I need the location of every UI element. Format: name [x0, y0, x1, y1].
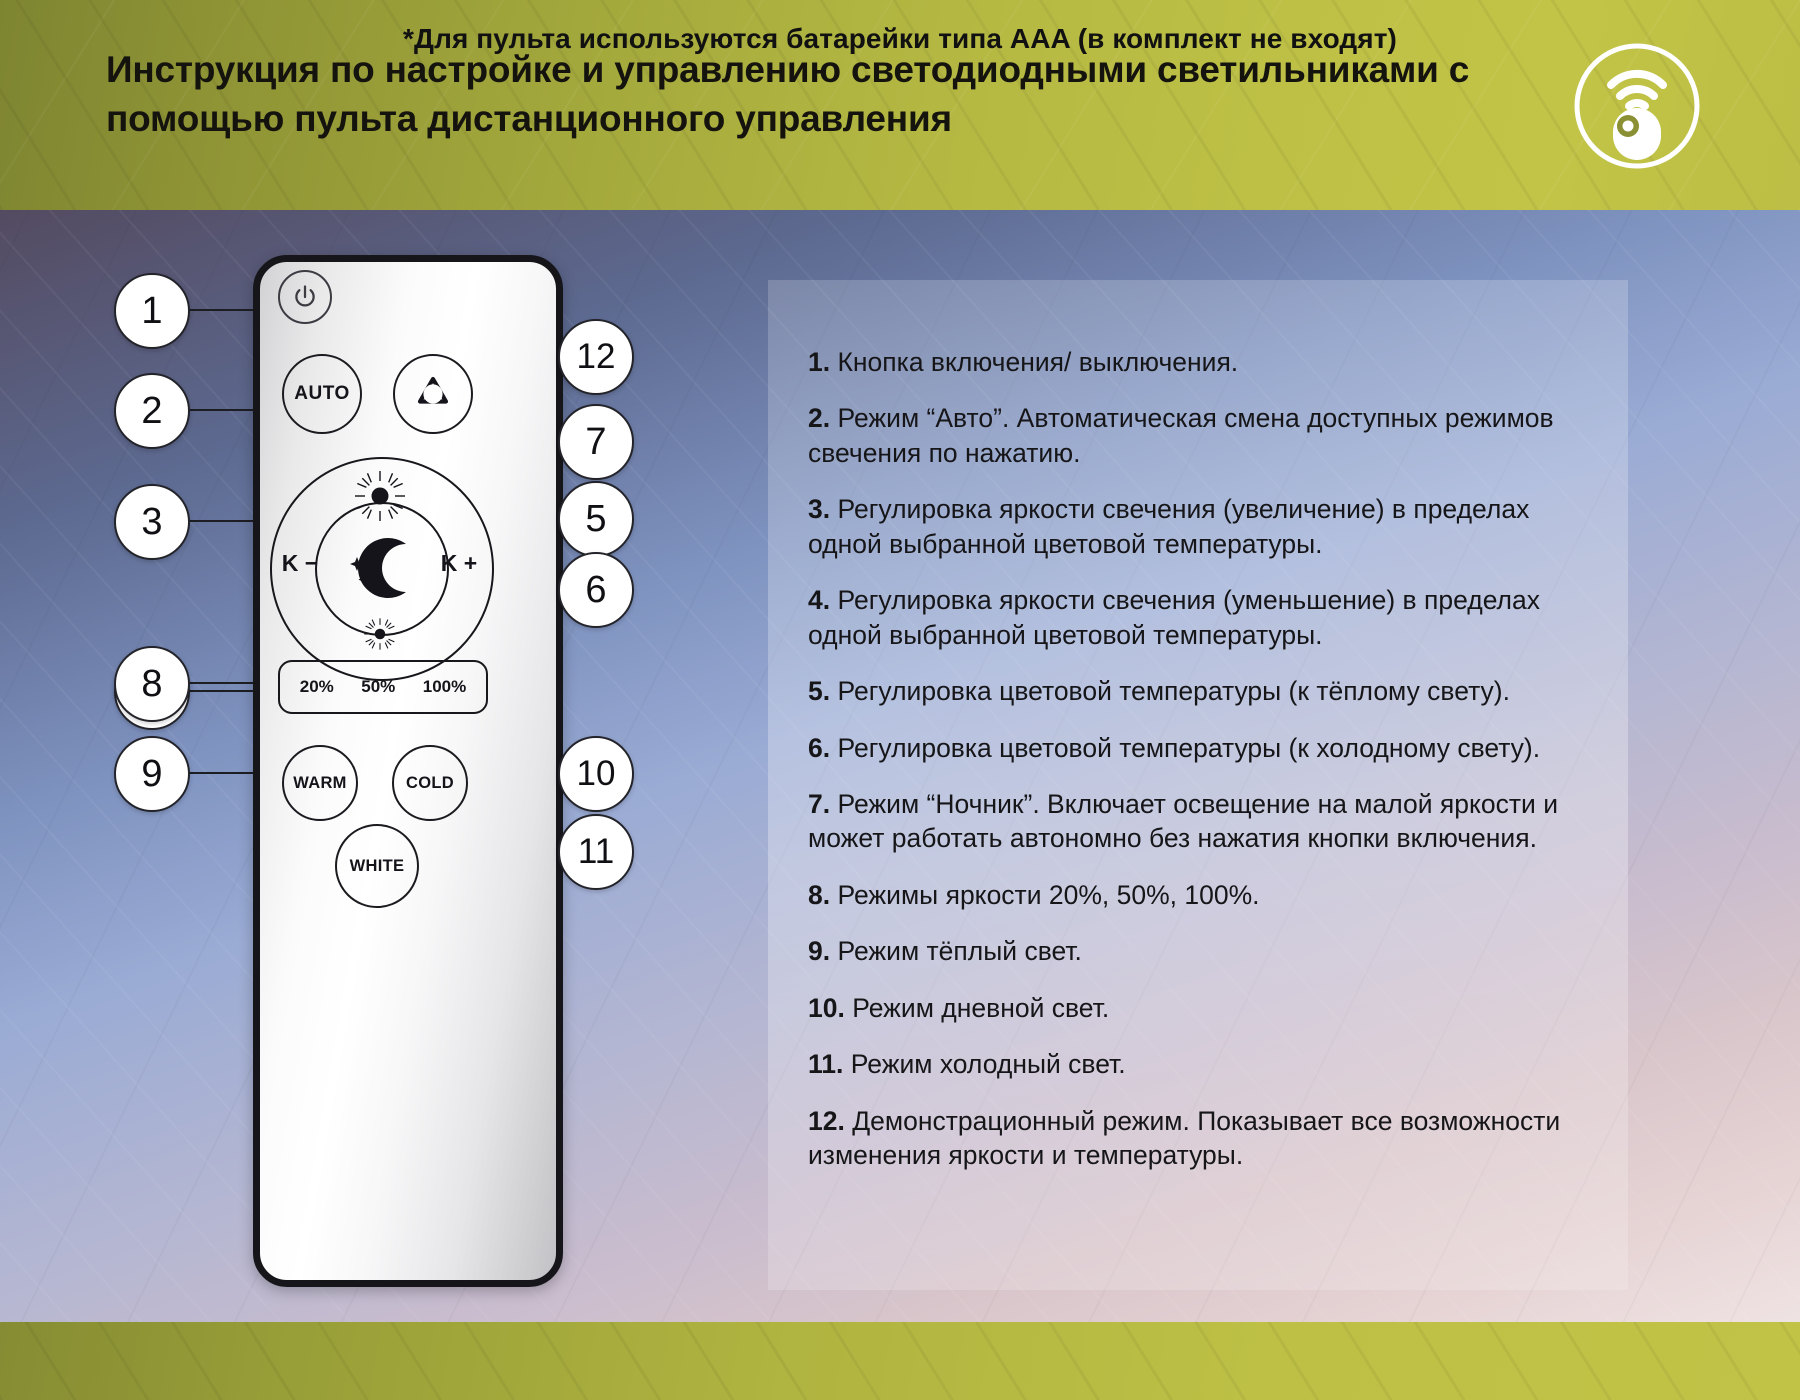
- battery-note: *Для пульта используются батарейки типа …: [0, 0, 1800, 78]
- step-text: Демонстрационный режим. Показывает все в…: [808, 1106, 1560, 1170]
- list-item: 8. Режимы яркости 20%, 50%, 100%.: [808, 878, 1608, 912]
- callout-badge-7[interactable]: 7: [558, 404, 634, 480]
- step-number: 4.: [808, 585, 830, 615]
- callout-number: 3: [141, 501, 162, 544]
- callout-badge-2[interactable]: 2: [114, 373, 190, 449]
- list-item: 5. Регулировка цветовой температуры (к т…: [808, 674, 1608, 708]
- white-light-button[interactable]: WHITE: [335, 824, 419, 908]
- step-number: 8.: [808, 880, 830, 910]
- step-text: Регулировка яркости свечения (уменьшение…: [808, 585, 1540, 649]
- brightness-level-100[interactable]: 100%: [423, 677, 466, 697]
- step-text: Регулировка яркости свечения (увеличение…: [808, 494, 1529, 558]
- step-number: 3.: [808, 494, 830, 524]
- callout-badge-9[interactable]: 9: [114, 736, 190, 812]
- list-item: 9. Режим тёплый свет.: [808, 934, 1608, 968]
- footer-band: [0, 1322, 1800, 1400]
- callout-badge-6[interactable]: 6: [558, 552, 634, 628]
- callout-number: 1: [141, 290, 162, 333]
- brightness-down-sun-icon[interactable]: [363, 617, 397, 651]
- callout-badge-8[interactable]: 8: [114, 646, 190, 722]
- step-text: Режим дневной свет.: [852, 993, 1109, 1023]
- step-text: Регулировка цветовой температуры (к тёпл…: [837, 676, 1509, 706]
- callout-number: 7: [585, 421, 606, 464]
- callout-number: 12: [577, 337, 616, 377]
- step-number: 1.: [808, 347, 830, 377]
- callout-number: 8: [141, 663, 162, 706]
- recycle-loop-icon: [408, 369, 458, 419]
- callout-number: 6: [585, 569, 606, 612]
- step-number: 7.: [808, 789, 830, 819]
- step-number: 10.: [808, 993, 845, 1023]
- callout-number: 9: [141, 753, 162, 796]
- infographic-page: Инструкция по настройке и управлению све…: [0, 0, 1800, 1400]
- power-button[interactable]: [278, 270, 332, 324]
- callout-badge-12[interactable]: 12: [558, 319, 634, 395]
- brightness-level-20[interactable]: 20%: [300, 677, 334, 697]
- temp-cold-label[interactable]: K +: [436, 550, 482, 577]
- auto-mode-button[interactable]: AUTO: [282, 354, 362, 434]
- list-item: 11. Режим холодный свет.: [808, 1047, 1608, 1081]
- step-number: 9.: [808, 936, 830, 966]
- cold-button-label: COLD: [406, 774, 454, 793]
- step-number: 6.: [808, 733, 830, 763]
- list-item: 7. Режим “Ночник”. Включает освещение на…: [808, 787, 1608, 856]
- temp-warm-label[interactable]: K −: [278, 550, 322, 577]
- footer-stripe-pattern: [0, 1322, 1800, 1400]
- step-number: 5.: [808, 676, 830, 706]
- warm-light-button[interactable]: WARM: [282, 745, 358, 821]
- brightness-level-50[interactable]: 50%: [361, 677, 395, 697]
- callout-badge-5[interactable]: 5: [558, 481, 634, 557]
- list-item: 12. Демонстрационный режим. Показывает в…: [808, 1104, 1608, 1173]
- step-text: Режимы яркости 20%, 50%, 100%.: [837, 880, 1259, 910]
- instructions-list: 1. Кнопка включения/ выключения. 2. Режи…: [808, 345, 1608, 1194]
- step-text: Режим “Авто”. Автоматическая смена досту…: [808, 403, 1554, 467]
- list-item: 6. Регулировка цветовой температуры (к х…: [808, 731, 1608, 765]
- callout-badge-3[interactable]: 3: [114, 484, 190, 560]
- list-item: 2. Режим “Авто”. Автоматическая смена до…: [808, 401, 1608, 470]
- night-mode-moon-stars-icon[interactable]: [336, 524, 424, 612]
- white-button-label: WHITE: [350, 857, 405, 876]
- callout-badge-10[interactable]: 10: [558, 736, 634, 812]
- step-number: 2.: [808, 403, 830, 433]
- step-text: Режим “Ночник”. Включает освещение на ма…: [808, 789, 1558, 853]
- step-text: Кнопка включения/ выключения.: [837, 347, 1238, 377]
- step-text: Режим холодный свет.: [851, 1049, 1126, 1079]
- callout-badge-1[interactable]: 1: [114, 273, 190, 349]
- list-item: 10. Режим дневной свет.: [808, 991, 1608, 1025]
- callout-number: 5: [585, 498, 606, 541]
- step-text: Режим тёплый свет.: [837, 936, 1081, 966]
- step-number: 11.: [808, 1049, 843, 1079]
- list-item: 1. Кнопка включения/ выключения.: [808, 345, 1608, 379]
- remote-control-body: AUTO: [253, 255, 563, 1287]
- warm-button-label: WARM: [293, 774, 346, 793]
- step-number: 12.: [808, 1106, 845, 1136]
- brightness-up-sun-icon[interactable]: [354, 470, 406, 522]
- callout-number: 2: [141, 390, 162, 433]
- callout-badge-11[interactable]: 11: [558, 814, 634, 890]
- step-text: Регулировка цветовой температуры (к холо…: [837, 733, 1540, 763]
- brightness-levels-row[interactable]: 20% 50% 100%: [278, 660, 488, 714]
- list-item: 3. Регулировка яркости свечения (увеличе…: [808, 492, 1608, 561]
- list-item: 4. Регулировка яркости свечения (уменьше…: [808, 583, 1608, 652]
- callout-number: 10: [577, 754, 616, 794]
- auto-button-label: AUTO: [294, 383, 349, 405]
- callout-number: 11: [578, 832, 614, 872]
- cold-light-button[interactable]: COLD: [392, 745, 468, 821]
- demo-mode-button[interactable]: [393, 354, 473, 434]
